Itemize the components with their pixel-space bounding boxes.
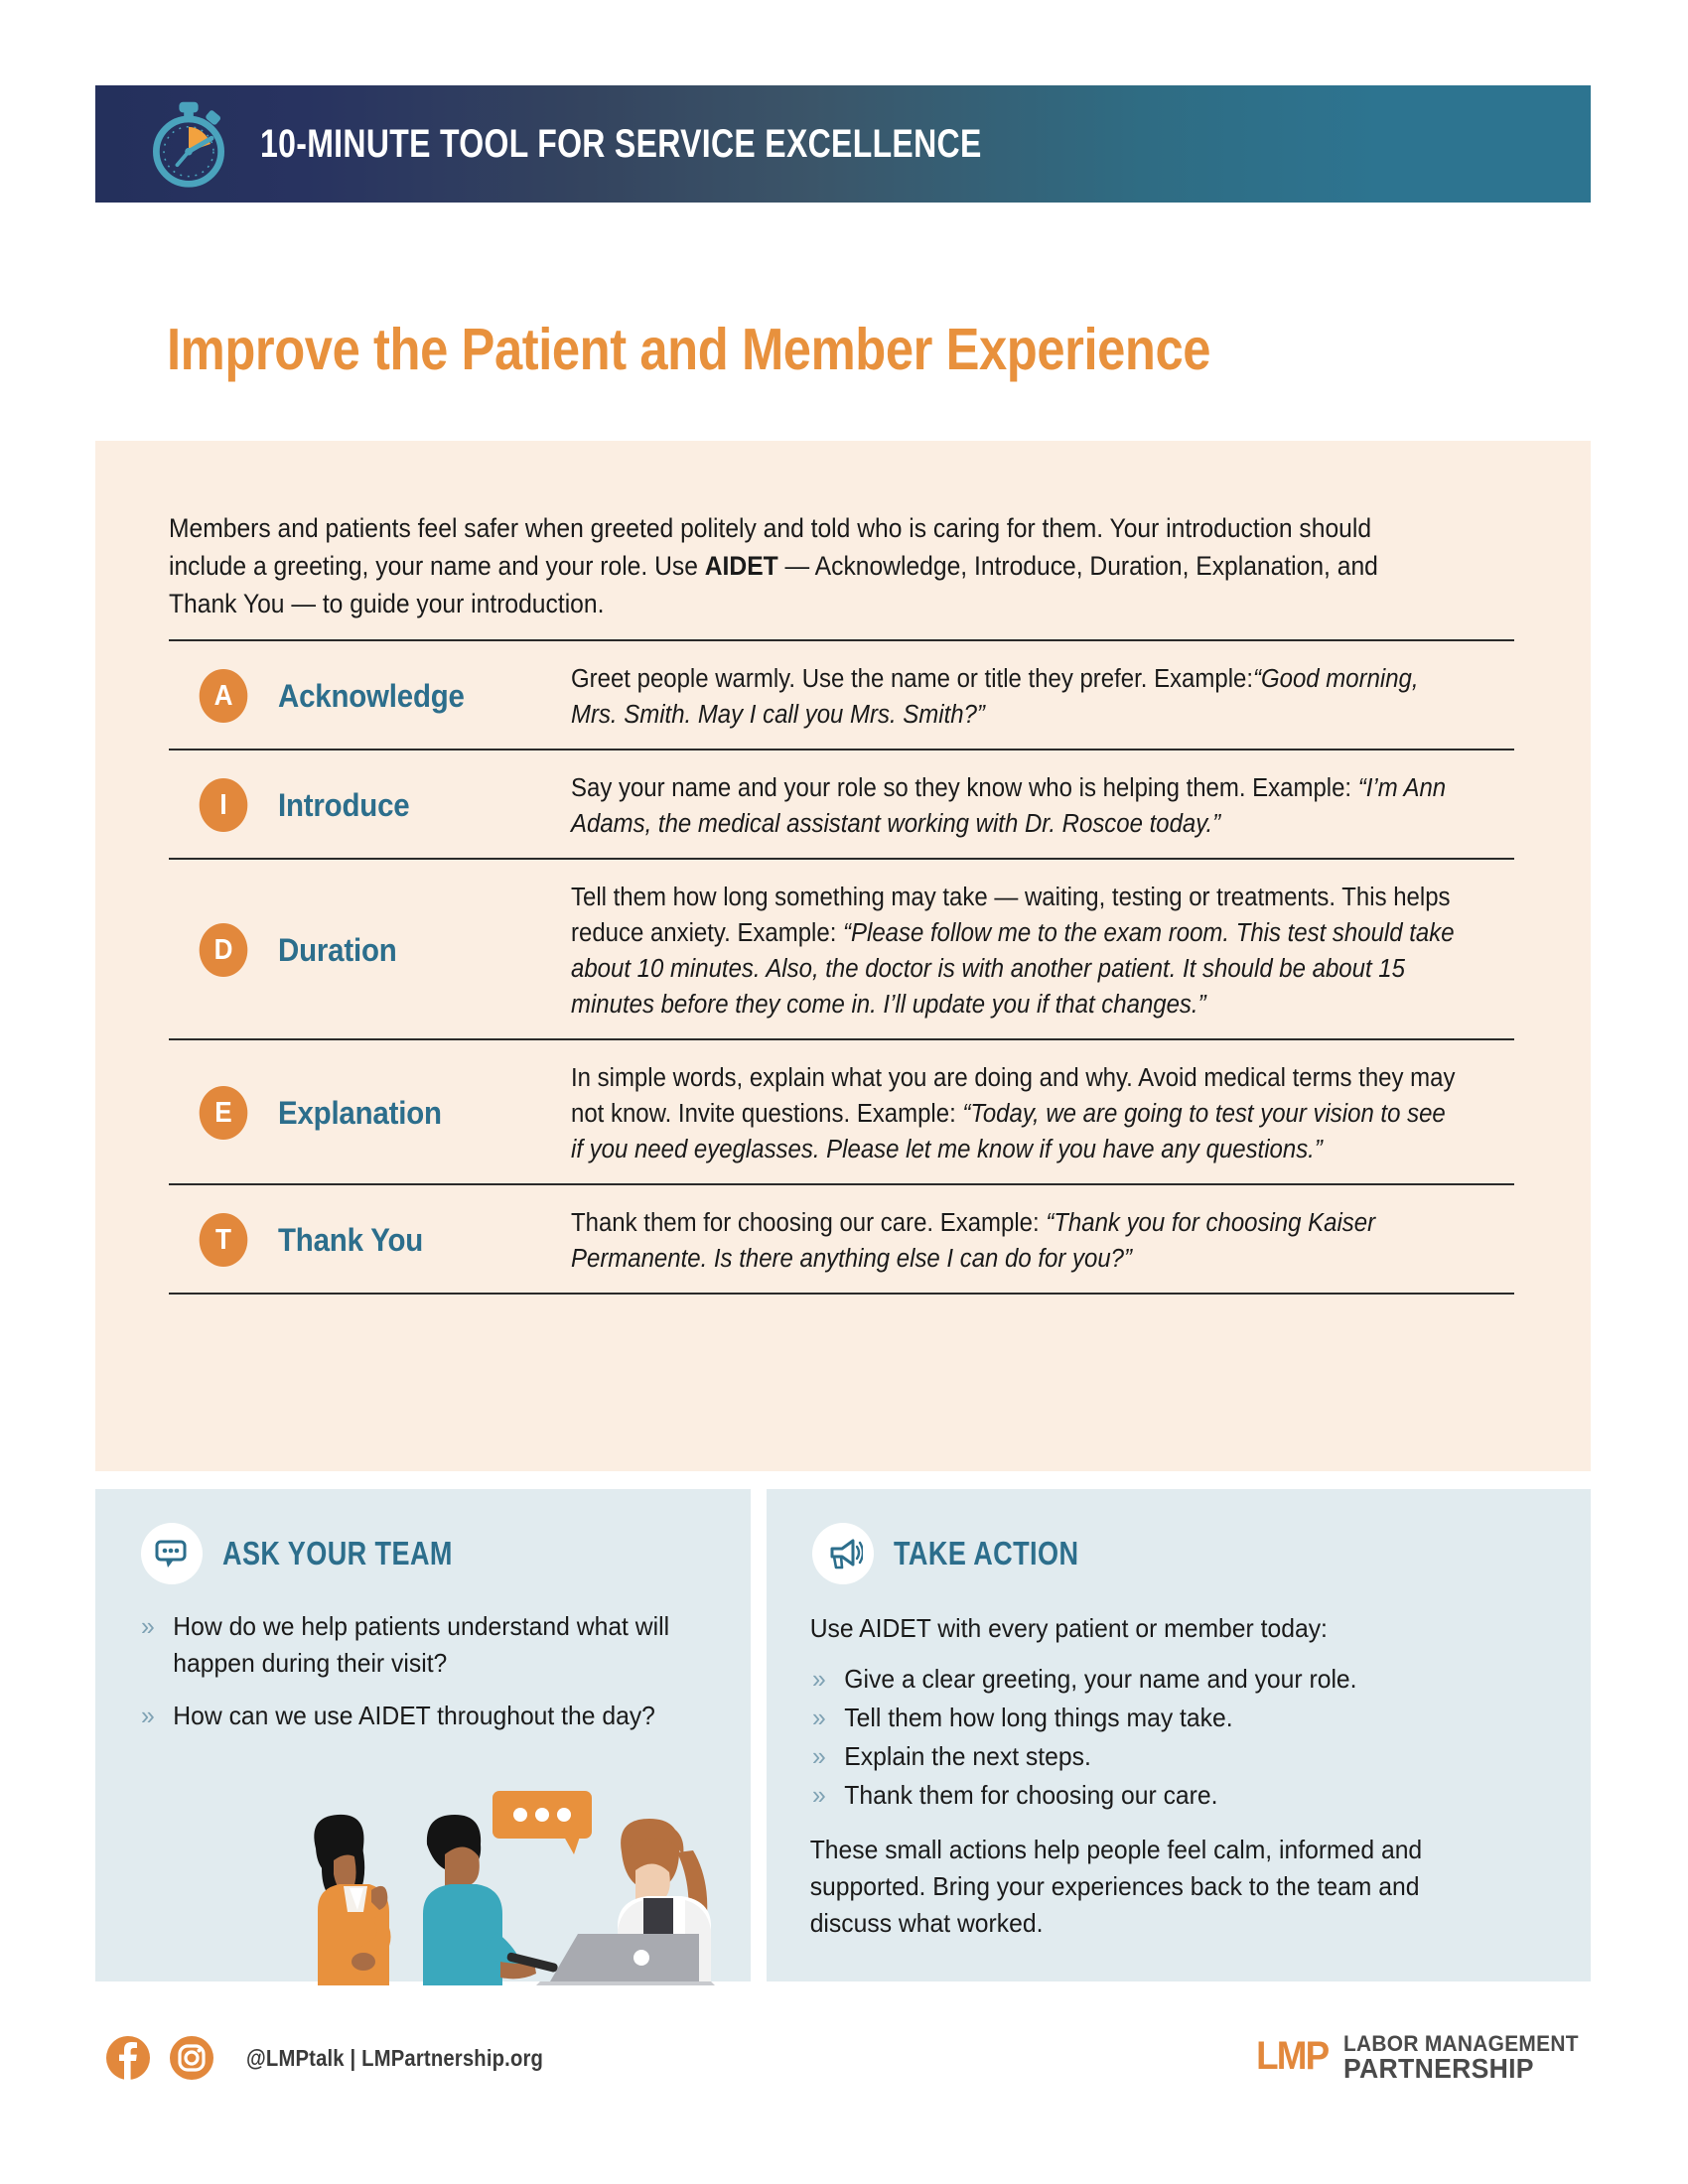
aidet-panel: Members and patients feel safer when gre… (95, 441, 1591, 1471)
speech-bubble-icon (141, 1523, 203, 1584)
facebook-icon[interactable] (105, 2035, 151, 2081)
list-item-text: Explain the next steps. (844, 1738, 1091, 1775)
page-title: Improve the Patient and Member Experienc… (167, 316, 1210, 383)
lmp-logo-mark: LMP (1256, 2034, 1328, 2079)
letter-badge-wrap: I (169, 778, 278, 832)
bullet-mark: » (812, 1777, 844, 1814)
list-item-text: Tell them how long things may take. (844, 1700, 1232, 1736)
ask-your-team-panel: ASK YOUR TEAM » How do we help patients … (95, 1489, 751, 1981)
aidet-term: Explanation (278, 1095, 547, 1132)
document-page: 10-MINUTE TOOL FOR SERVICE EXCELLENCE Im… (0, 0, 1688, 2184)
header-banner: 10-MINUTE TOOL FOR SERVICE EXCELLENCE (95, 85, 1591, 203)
aidet-lead-text: Thank them for choosing our care. Exampl… (571, 1209, 1046, 1237)
aidet-description: Greet people warmly. Use the name or tit… (571, 659, 1458, 733)
letter-badge-wrap: D (169, 923, 278, 977)
letter-badge-wrap: T (169, 1213, 278, 1267)
aidet-letter-badge: E (200, 1086, 248, 1140)
aidet-row-thank-you: T Thank You Thank them for choosing our … (169, 1183, 1514, 1295)
take-action-panel: TAKE ACTION Use AIDET with every patient… (767, 1489, 1591, 1981)
take-action-title: TAKE ACTION (894, 1535, 1078, 1572)
list-item-text: Give a clear greeting, your name and you… (844, 1661, 1356, 1698)
footer: @LMPtalk | LMPartnership.org LMP LABOR M… (95, 2025, 1591, 2115)
list-item: » Give a clear greeting, your name and y… (812, 1661, 1514, 1698)
list-item: » How can we use AIDET throughout the da… (141, 1698, 682, 1734)
letter-badge-wrap: E (169, 1086, 278, 1140)
footer-handle[interactable]: @LMPtalk | LMPartnership.org (246, 2045, 543, 2072)
social-links: @LMPtalk | LMPartnership.org (105, 2035, 584, 2081)
ask-your-team-list: » How do we help patients understand wha… (95, 1608, 751, 1734)
bullet-mark: » (141, 1608, 173, 1682)
list-item-text: How can we use AIDET throughout the day? (173, 1698, 655, 1734)
take-action-header: TAKE ACTION (767, 1489, 1591, 1584)
header-title: 10-MINUTE TOOL FOR SERVICE EXCELLENCE (260, 122, 982, 167)
list-item-text: How do we help patients understand what … (173, 1608, 682, 1682)
letter-badge-wrap: A (169, 669, 278, 723)
take-action-list: » Give a clear greeting, your name and y… (767, 1661, 1591, 1814)
intro-paragraph: Members and patients feel safer when gre… (169, 509, 1388, 622)
take-action-lead: Use AIDET with every patient or member t… (767, 1610, 1550, 1647)
aidet-letter-badge: A (200, 669, 248, 723)
lmp-logo: LMP LABOR MANAGEMENT PARTNERSHIP (1253, 2031, 1591, 2081)
ask-your-team-header: ASK YOUR TEAM (95, 1489, 751, 1584)
bullet-mark: » (812, 1738, 844, 1775)
bullet-mark: » (141, 1698, 173, 1734)
lmp-logo-line2: PARTNERSHIP (1343, 2056, 1579, 2081)
team-conversation-illustration (294, 1787, 751, 1985)
stopwatch-icon (141, 96, 236, 192)
aidet-description: Tell them how long something may take — … (571, 878, 1458, 1023)
list-item: » How do we help patients understand wha… (141, 1608, 682, 1682)
aidet-letter-badge: T (200, 1213, 248, 1267)
instagram-icon[interactable] (169, 2035, 214, 2081)
intro-aidet-bold: AIDET (705, 551, 778, 581)
aidet-description: Say your name and your role so they know… (571, 768, 1458, 842)
list-item: » Tell them how long things may take. (812, 1700, 1514, 1736)
aidet-term: Acknowledge (278, 678, 547, 715)
aidet-lead-text: Say your name and your role so they know… (571, 774, 1358, 802)
aidet-letter-badge: I (200, 778, 248, 832)
megaphone-icon (812, 1523, 874, 1584)
aidet-row-introduce: I Introduce Say your name and your role … (169, 749, 1514, 858)
ask-your-team-title: ASK YOUR TEAM (222, 1535, 453, 1572)
aidet-term: Introduce (278, 787, 547, 824)
take-action-closing: These small actions help people feel cal… (767, 1832, 1550, 1942)
list-item: » Explain the next steps. (812, 1738, 1514, 1775)
aidet-description: Thank them for choosing our care. Exampl… (571, 1203, 1458, 1277)
aidet-table: A Acknowledge Greet people warmly. Use t… (169, 639, 1514, 1295)
list-item: » Thank them for choosing our care. (812, 1777, 1514, 1814)
aidet-row-acknowledge: A Acknowledge Greet people warmly. Use t… (169, 639, 1514, 749)
aidet-description: In simple words, explain what you are do… (571, 1058, 1458, 1167)
lmp-logo-words: LABOR MANAGEMENT PARTNERSHIP (1343, 2031, 1591, 2081)
list-item-text: Thank them for choosing our care. (844, 1777, 1217, 1814)
aidet-lead-text: Greet people warmly. Use the name or tit… (571, 665, 1253, 693)
aidet-row-explanation: E Explanation In simple words, explain w… (169, 1038, 1514, 1183)
aidet-letter-badge: D (200, 923, 248, 977)
bullet-mark: » (812, 1661, 844, 1698)
aidet-term: Duration (278, 932, 547, 969)
aidet-term: Thank You (278, 1222, 547, 1259)
bullet-mark: » (812, 1700, 844, 1736)
aidet-row-duration: D Duration Tell them how long something … (169, 858, 1514, 1038)
